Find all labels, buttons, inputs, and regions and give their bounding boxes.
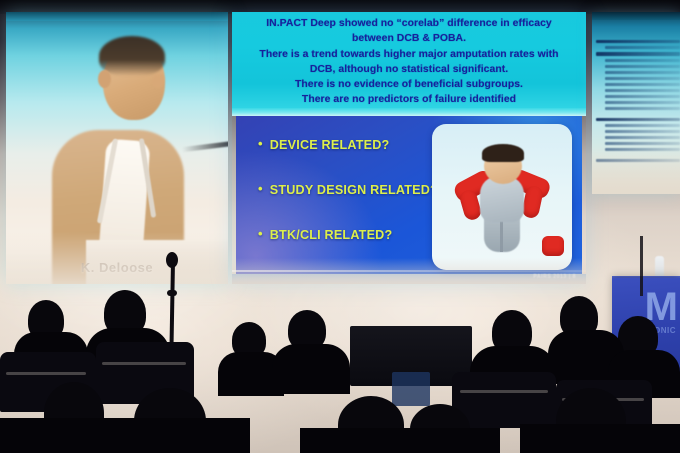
bullet-marker-icon: • bbox=[258, 181, 263, 196]
slide-bullet-btk-cli-related: •BTK/CLI RELATED? bbox=[258, 226, 392, 242]
video-bottom-fade bbox=[6, 232, 228, 284]
programme-line bbox=[596, 52, 680, 55]
programme-line bbox=[605, 65, 680, 68]
chair-highlight bbox=[102, 362, 186, 365]
question-mark-icon-dot bbox=[542, 236, 564, 256]
programme-schedule-screen bbox=[592, 12, 680, 194]
slide-header-strip bbox=[232, 108, 586, 116]
light-stand-pole bbox=[640, 236, 643, 296]
speaker-nose bbox=[152, 74, 164, 88]
audience-shoulders bbox=[272, 344, 350, 394]
figure-leg-split bbox=[500, 220, 503, 252]
programme-line bbox=[605, 136, 680, 139]
microphone-stand-knob bbox=[167, 290, 177, 296]
programme-line bbox=[596, 40, 680, 43]
slide-header-line-5: There is no evidence of beneficial subgr… bbox=[232, 77, 586, 92]
figure-hair bbox=[482, 144, 524, 162]
slide-bullet-device-related: •DEVICE RELATED? bbox=[258, 136, 389, 152]
bullet-label: STUDY DESIGN RELATED? bbox=[270, 183, 438, 197]
programme-line bbox=[605, 95, 680, 98]
programme-line bbox=[605, 107, 680, 110]
programme-line bbox=[605, 101, 680, 104]
slide-bullet-study-design-related: •STUDY DESIGN RELATED? bbox=[258, 181, 438, 197]
speaker-hair bbox=[99, 36, 165, 76]
slide-header-textbox: IN.PACT Deep showed no “corelab” differe… bbox=[232, 12, 586, 108]
programme-top-band bbox=[592, 12, 680, 20]
programme-line bbox=[605, 59, 680, 62]
slide-header-line-6: There are no predictors of failure ident… bbox=[232, 92, 586, 107]
speaker-ear bbox=[98, 70, 111, 88]
stage-monitor-secondary bbox=[392, 372, 430, 406]
slide-illustration-panel bbox=[432, 124, 572, 270]
audience-foreground-row bbox=[0, 418, 250, 453]
slide-header-line-3: There is a trend towards higher major am… bbox=[232, 47, 586, 62]
programme-line bbox=[605, 46, 680, 49]
slide-header-line-4: DCB, although no statistical significant… bbox=[232, 62, 586, 77]
slide-bottom-fade bbox=[232, 258, 586, 284]
programme-line bbox=[605, 77, 680, 80]
slide-header-line-1: IN.PACT Deep showed no “corelab” differe… bbox=[232, 16, 586, 31]
video-top-band bbox=[6, 12, 228, 21]
slide-body: •DEVICE RELATED? •STUDY DESIGN RELATED? … bbox=[236, 116, 582, 274]
programme-bottom-fade bbox=[592, 148, 680, 194]
slide-header-line-2: between DCB & POBA. bbox=[232, 31, 586, 46]
programme-line bbox=[605, 83, 680, 86]
chair-highlight bbox=[460, 390, 548, 393]
audience-foreground-row bbox=[300, 428, 500, 453]
programme-text-lines bbox=[596, 40, 680, 165]
programme-line bbox=[605, 130, 680, 133]
lectern-microphone bbox=[182, 141, 228, 152]
screenshot-root: K. Deloose IN.PACT Deep showed no “corel… bbox=[0, 0, 680, 453]
bullet-label: BTK/CLI RELATED? bbox=[270, 228, 393, 242]
programme-line bbox=[605, 124, 680, 127]
presentation-slide: IN.PACT Deep showed no “corelab” differe… bbox=[232, 12, 586, 284]
speaker-video-screen: K. Deloose bbox=[6, 12, 228, 284]
bullet-label: DEVICE RELATED? bbox=[270, 138, 390, 152]
programme-line bbox=[605, 71, 680, 74]
bullet-marker-icon: • bbox=[258, 226, 263, 241]
bullet-marker-icon: • bbox=[258, 136, 263, 151]
audience-foreground-row bbox=[520, 424, 680, 453]
chair-highlight bbox=[6, 372, 86, 375]
programme-line bbox=[605, 89, 680, 92]
programme-line bbox=[596, 118, 680, 121]
programme-line bbox=[605, 142, 680, 145]
